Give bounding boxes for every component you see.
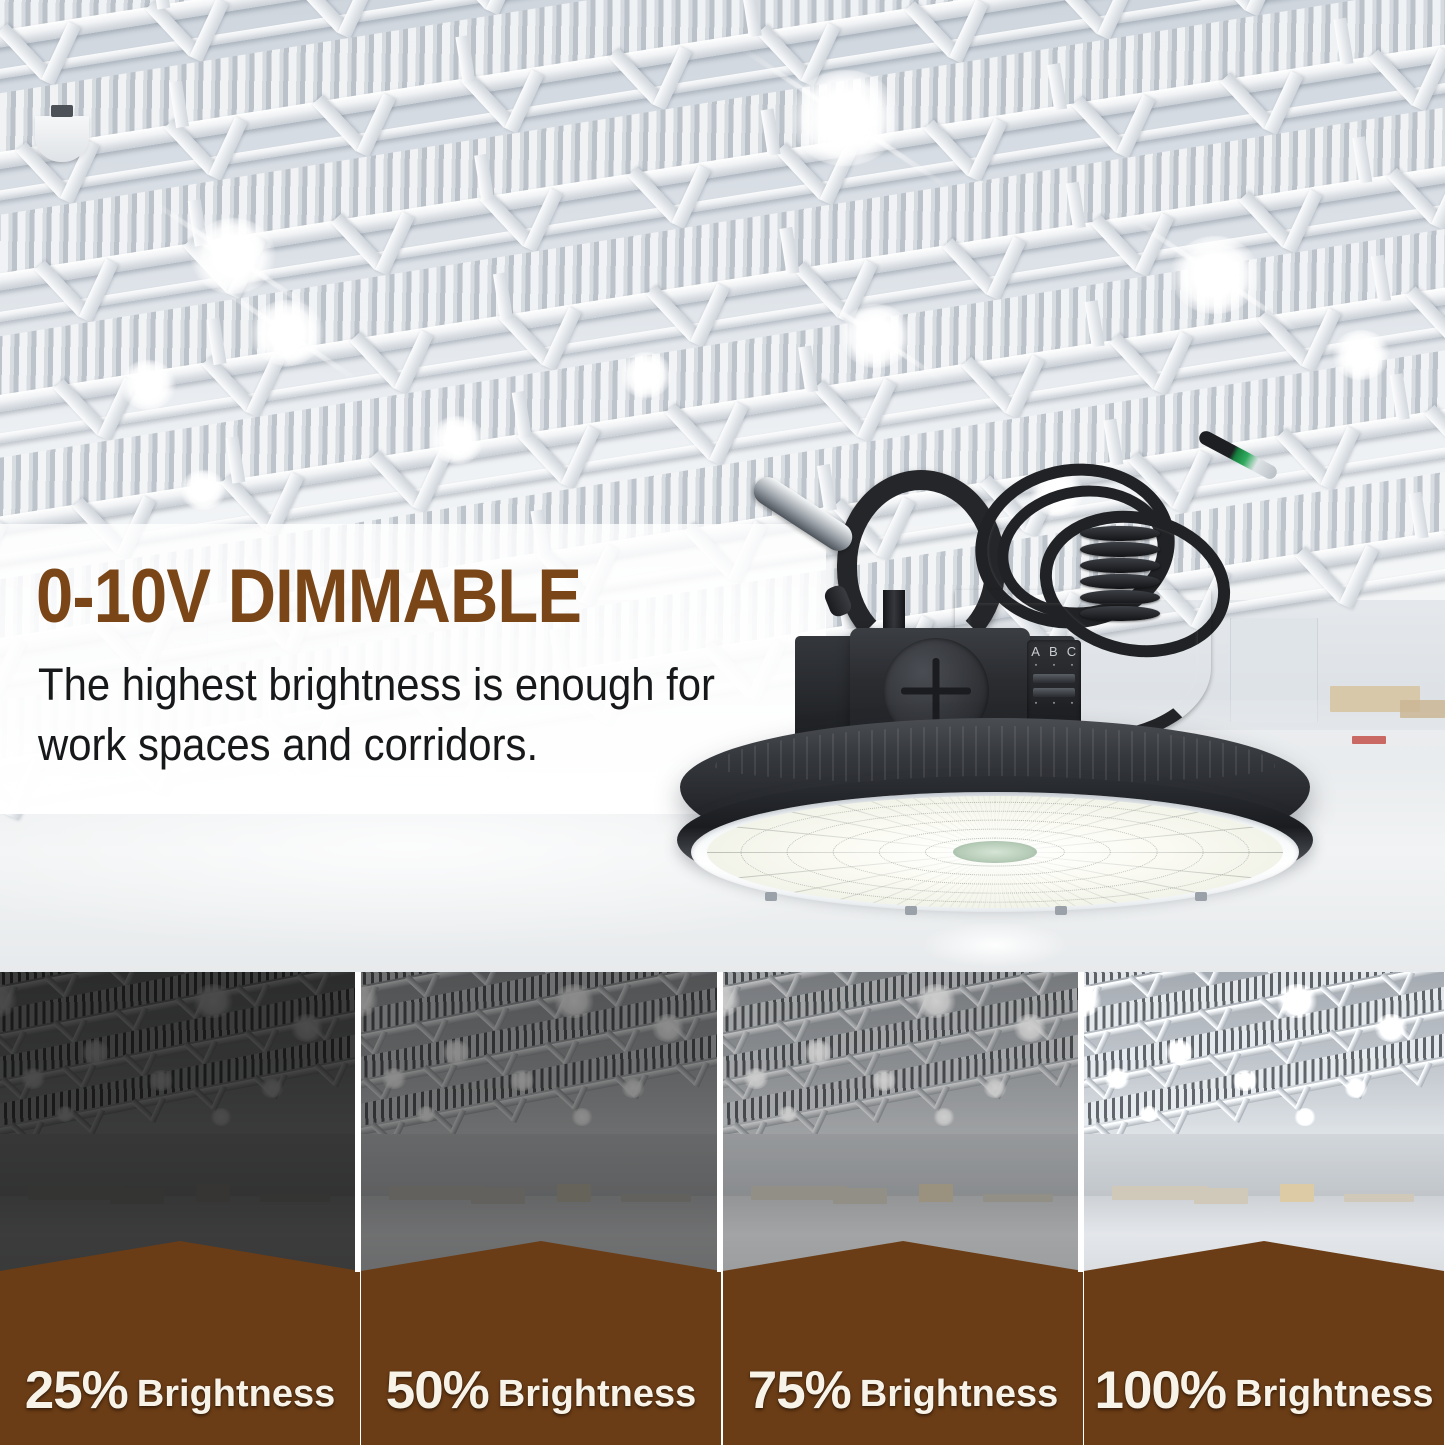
- thumb-ceiling-lamp: [553, 984, 595, 1018]
- thumb-ceiling-lamp: [1139, 1106, 1159, 1122]
- thumb-ceiling-lamp: [803, 1040, 833, 1065]
- selector-letters: A B C: [1027, 644, 1081, 659]
- selector-b: B: [1049, 644, 1058, 659]
- thumb-pallet: [471, 1188, 525, 1204]
- floor-marker-red: [1352, 736, 1386, 744]
- dip-switch[interactable]: [1033, 674, 1075, 683]
- caption-band: 25%Brightness: [0, 1227, 360, 1445]
- thumb-ceiling-lamp: [621, 1078, 645, 1098]
- brightness-word: Brightness: [1235, 1373, 1433, 1415]
- thumb-pallet: [1194, 1188, 1248, 1204]
- thumb-ceiling-lamp: [148, 1070, 174, 1091]
- page-title: 0-10V DIMMABLE: [36, 556, 581, 638]
- ceiling-lamp-glow: [620, 352, 672, 398]
- thumb-pallet: [621, 1194, 691, 1202]
- brightness-panel-100[interactable]: 100%Brightness: [1084, 972, 1444, 1445]
- dip-switch[interactable]: [1033, 688, 1075, 697]
- thumb-pallet: [110, 1188, 164, 1204]
- brightness-label: 100%Brightness: [1084, 1360, 1444, 1421]
- caption-band: 75%Brightness: [723, 1227, 1083, 1445]
- selector-c: C: [1067, 644, 1077, 659]
- lens-clip: [1055, 906, 1067, 915]
- thumb-pallet: [1344, 1194, 1414, 1202]
- ceiling-lamp-glow: [430, 416, 484, 464]
- thumb-ceiling-lamp: [1013, 1014, 1047, 1042]
- thumb-ceiling-lamp: [260, 1078, 284, 1098]
- thumb-pallet: [983, 1194, 1053, 1202]
- thumb-ceiling-lamp: [778, 1106, 798, 1122]
- brightness-percent: 75%: [748, 1361, 851, 1420]
- product-infographic: 0-10V DIMMABLE The highest brightness is…: [0, 0, 1445, 1445]
- ceiling-lamp-glow: [790, 70, 900, 166]
- lens-center-hub: [953, 841, 1037, 863]
- ceiling-lamp-glow: [190, 218, 276, 294]
- lens-clip: [1195, 892, 1207, 901]
- lens-clip: [905, 906, 917, 915]
- driver-side-wing: [795, 636, 855, 740]
- thumb-ceiling-lamp: [20, 1068, 46, 1089]
- thumb-ceiling-lamp: [416, 1106, 436, 1122]
- ceiling-lamp-glow: [250, 300, 324, 366]
- thumb-ceiling-lamp: [509, 1070, 535, 1091]
- lens-hotspot-glow: [920, 922, 1070, 968]
- brightness-percent: 25%: [25, 1361, 128, 1420]
- selector-a: A: [1031, 644, 1040, 659]
- thumb-pallet: [919, 1184, 953, 1202]
- thumb-ceiling-lamp: [1294, 1108, 1316, 1126]
- thumb-ceiling-lamp: [441, 1040, 471, 1065]
- ceiling-lamp-glow: [120, 360, 176, 410]
- thumb-diagonal: [1441, 972, 1444, 983]
- selector-footer: ▪▪▪: [1027, 700, 1081, 707]
- thumb-ceiling-lamp: [290, 1014, 324, 1042]
- ceiling-lamp-glow: [1332, 330, 1390, 380]
- ceiling-lamp-glow: [1170, 236, 1260, 314]
- thumb-ceiling-lamp: [1164, 1040, 1194, 1065]
- thumb-pallet: [1280, 1184, 1314, 1202]
- caption-band: 50%Brightness: [361, 1227, 721, 1445]
- caption-band: 100%Brightness: [1084, 1227, 1444, 1445]
- thumb-ceiling-lamp: [1232, 1070, 1258, 1091]
- lens-clip: [765, 892, 777, 901]
- thumb-ceiling-lamp: [651, 1014, 685, 1042]
- thumb-ceiling-lamp: [381, 1068, 407, 1089]
- brightness-word: Brightness: [137, 1373, 335, 1415]
- brightness-panel-25[interactable]: 25%Brightness: [0, 972, 360, 1445]
- hero-warehouse-photo: 0-10V DIMMABLE The highest brightness is…: [0, 0, 1445, 975]
- thumb-ceiling-lamp: [743, 1068, 769, 1089]
- brightness-comparison-strip: 25%Brightness: [0, 972, 1445, 1445]
- thumb-ceiling-lamp: [55, 1106, 75, 1122]
- thumb-ceiling-lamp: [1276, 984, 1318, 1018]
- selector-wattages: ▪▪▪: [1027, 662, 1081, 669]
- brightness-label: 75%Brightness: [723, 1360, 1083, 1421]
- thumb-ceiling-lamp: [210, 1108, 232, 1126]
- thumb-ceiling-lamp: [1104, 1068, 1130, 1089]
- thumb-pallet: [196, 1184, 230, 1202]
- thumb-pallet: [557, 1184, 591, 1202]
- thumb-ceiling-lamp: [915, 984, 957, 1018]
- ceiling-lamp-glow: [840, 304, 912, 368]
- ceiling-lamp-glow: [180, 470, 226, 510]
- thumb-ceiling-lamp: [192, 984, 234, 1018]
- thumb-ceiling-lamp: [1374, 1014, 1408, 1042]
- thumb-ceiling-lamp: [983, 1078, 1007, 1098]
- thumb-ceiling-lamp: [1344, 1078, 1368, 1098]
- brightness-label: 50%Brightness: [361, 1360, 721, 1421]
- thumb-pallet: [260, 1194, 330, 1202]
- brightness-percent: 50%: [386, 1361, 489, 1420]
- thumb-ceiling-lamp: [571, 1108, 593, 1126]
- floor-pallet: [1400, 700, 1445, 718]
- brightness-word: Brightness: [498, 1373, 696, 1415]
- brightness-panel-75[interactable]: 75%Brightness: [723, 972, 1083, 1445]
- brightness-panel-50[interactable]: 50%Brightness: [361, 972, 721, 1445]
- ufo-high-bay-light: A B C ▪▪▪ ▪▪▪: [655, 440, 1335, 950]
- thumb-pallet: [833, 1188, 887, 1204]
- thumb-ceiling-lamp: [871, 1070, 897, 1091]
- brightness-label: 25%Brightness: [0, 1360, 360, 1421]
- brightness-word: Brightness: [860, 1373, 1058, 1415]
- thumb-ceiling-lamp: [933, 1108, 955, 1126]
- thumb-ceiling-lamp: [80, 1040, 110, 1065]
- carabiner-clip-icon: [748, 472, 857, 556]
- brightness-percent: 100%: [1094, 1361, 1226, 1420]
